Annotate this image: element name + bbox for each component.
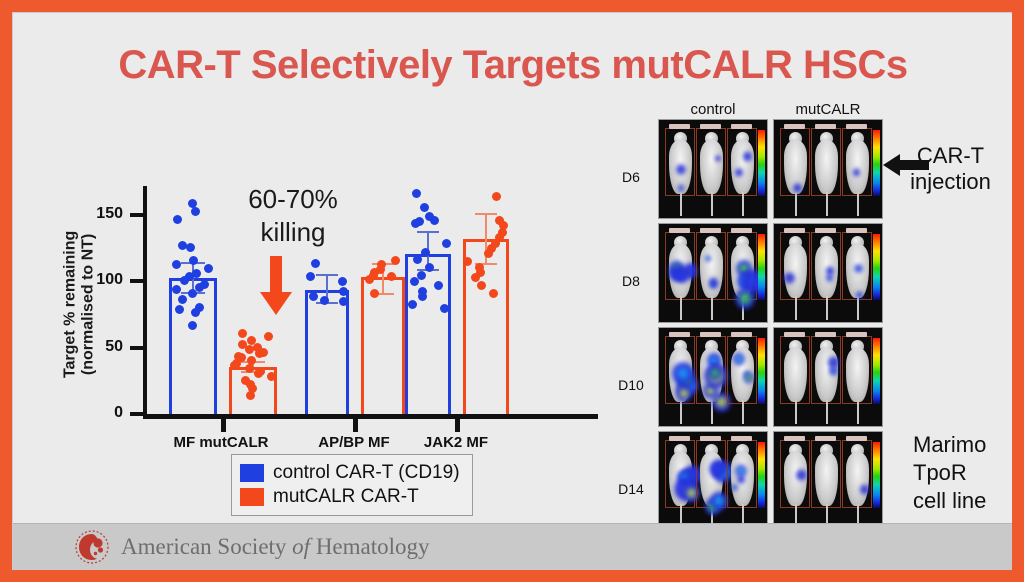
mouse-body — [846, 452, 869, 506]
cell-line-line3: cell line — [913, 487, 1012, 515]
page-title: CAR-T Selectively Targets mutCALR HSCs — [13, 43, 1012, 88]
row-label-d8: D8 — [613, 273, 649, 289]
bioluminescence-image — [773, 431, 883, 531]
y-axis-title-line1: Target % remaining — [62, 189, 80, 419]
scatter-point — [255, 349, 264, 358]
row-label-d6: D6 — [613, 169, 649, 185]
scatter-point — [412, 189, 421, 198]
scatter-point — [484, 249, 493, 258]
x-label-mf-mutcalr: MF mutCALR — [151, 434, 291, 451]
bioluminescence-image — [658, 327, 768, 427]
mouse-tail — [857, 296, 859, 320]
mouse-id-tag — [731, 124, 752, 129]
mouse-id-tag — [815, 124, 836, 129]
signal-blob — [743, 371, 754, 384]
mouse-id-tag — [815, 436, 836, 441]
x-label-jak2-mf: JAK2 MF — [395, 434, 517, 451]
ash-logo-icon — [75, 530, 109, 564]
signal-blob — [793, 183, 802, 193]
chart-legend: control CAR-T (CD19) mutCALR CAR-T — [231, 454, 473, 516]
signal-blob — [676, 384, 692, 403]
mouse-id-tag — [700, 436, 721, 441]
slide-canvas: CAR-T Selectively Targets mutCALR HSCs T… — [12, 12, 1012, 570]
scatter-point — [238, 329, 247, 338]
mouse-tail — [795, 192, 797, 216]
y-axis-title: Target % remaining (normalised to NT) — [62, 189, 99, 419]
scatter-point — [365, 275, 374, 284]
y-tick-label-0: 0 — [71, 404, 123, 422]
x-axis-line — [143, 414, 598, 419]
scatter-point — [245, 345, 254, 354]
mouse-tail — [680, 296, 682, 320]
scatter-point — [418, 292, 427, 301]
mouse-id-tag — [669, 436, 690, 441]
scatter-point — [408, 300, 417, 309]
slide-frame: CAR-T Selectively Targets mutCALR HSCs T… — [0, 0, 1024, 582]
legend-label-control: control CAR-T (CD19) — [273, 462, 460, 484]
signal-blob — [675, 267, 689, 284]
y-axis-title-line2: (normalised to NT) — [80, 189, 98, 419]
panel-header-mutcalr: mutCALR — [773, 101, 883, 118]
signal-blob — [737, 475, 745, 484]
scatter-point — [189, 256, 198, 265]
bar-mf-mutcalr-control — [169, 278, 217, 414]
bioluminescence-image — [773, 119, 883, 219]
y-tick-label-50: 50 — [71, 338, 123, 356]
mouse-id-tag — [815, 228, 836, 233]
bar-apbp-mf-mutcalr — [361, 277, 405, 414]
signal-blob — [715, 155, 721, 162]
row-label-d10: D10 — [613, 377, 649, 393]
y-axis-line — [143, 186, 147, 418]
y-tick-150 — [130, 213, 147, 217]
annotation-killing: 60-70% killing — [223, 183, 363, 248]
mouse-tail — [742, 400, 744, 424]
x-tick-apbp-mf — [353, 419, 358, 432]
signal-blob — [860, 484, 869, 495]
mouse-body — [846, 140, 869, 194]
scatter-point — [391, 256, 400, 265]
mouse-id-tag — [784, 332, 805, 337]
mouse-body — [731, 140, 754, 194]
signal-blob — [796, 469, 807, 481]
mouse-id-tag — [731, 436, 752, 441]
bioluminescence-panel: control mutCALR D6 D8 D10 D14 CAR-T inje… — [613, 101, 1012, 541]
scatter-point — [204, 264, 213, 273]
signal-blob — [731, 484, 737, 491]
mouse-tail — [711, 192, 713, 216]
bar-apbp-mf-control — [305, 290, 349, 414]
legend-label-mutcalr: mutCALR CAR-T — [273, 486, 419, 508]
mouse-tail — [857, 192, 859, 216]
footer-text-part1: American Society — [121, 534, 292, 559]
scatter-point — [267, 372, 276, 381]
annotation-line1: 60-70% — [223, 183, 363, 216]
signal-blob — [678, 184, 685, 192]
scatter-point — [425, 263, 434, 272]
x-tick-mf-mutcalr — [221, 419, 226, 432]
mouse-id-tag — [846, 228, 867, 233]
cell-line-line1: Marimo — [913, 431, 1012, 459]
scatter-point — [191, 207, 200, 216]
scatter-point — [489, 289, 498, 298]
x-tick-jak2-mf — [455, 419, 460, 432]
y-tick-label-150: 150 — [71, 205, 123, 223]
footer-text-italic: of — [292, 534, 310, 559]
mouse-tail — [795, 296, 797, 320]
footer-text-part2: Hematology — [310, 534, 429, 559]
mouse-id-tag — [669, 124, 690, 129]
mouse-id-tag — [700, 124, 721, 129]
bioluminescence-image — [658, 223, 768, 323]
scatter-point — [311, 259, 320, 268]
mouse-body — [846, 348, 869, 402]
scatter-point — [411, 219, 420, 228]
mouse-id-tag — [731, 228, 752, 233]
cart-callout-line2: injection — [888, 169, 1012, 195]
y-tick-0 — [130, 412, 147, 416]
legend-swatch-mutcalr — [240, 488, 264, 506]
intensity-colorbar — [758, 130, 765, 196]
signal-blob — [676, 164, 686, 175]
footer-bar: American Society of Hematology — [13, 523, 1012, 570]
mouse-id-tag — [700, 332, 721, 337]
panel-header-control: control — [658, 101, 768, 118]
signal-blob — [710, 491, 727, 511]
mouse-id-tag — [846, 436, 867, 441]
intensity-colorbar — [873, 338, 880, 404]
mouse-body — [700, 244, 723, 298]
signal-blob — [828, 356, 839, 369]
mouse-id-tag — [784, 436, 805, 441]
scatter-point — [430, 216, 439, 225]
mouse-tail — [680, 192, 682, 216]
scatter-point — [306, 272, 315, 281]
scatter-point — [338, 277, 347, 286]
mouse-body — [784, 244, 807, 298]
signal-blob — [672, 361, 693, 385]
mouse-tail — [826, 400, 828, 424]
footer-text: American Society of Hematology — [121, 534, 430, 560]
cell-line-caption: Marimo TpoR cell line — [913, 431, 1012, 515]
legend-swatch-control — [240, 464, 264, 482]
mouse-tail — [742, 192, 744, 216]
mouse-body — [815, 452, 838, 506]
bar-chart: Target % remaining (normalised to NT) 0 … — [43, 168, 603, 528]
scatter-point — [191, 308, 200, 317]
y-tick-label-100: 100 — [71, 271, 123, 289]
mouse-id-tag — [846, 332, 867, 337]
intensity-colorbar — [873, 130, 880, 196]
intensity-colorbar — [873, 442, 880, 508]
mouse-body — [784, 348, 807, 402]
mouse-tail — [826, 296, 828, 320]
scatter-point — [309, 292, 318, 301]
signal-blob — [735, 168, 743, 177]
signal-blob — [735, 287, 755, 311]
cell-line-line2: TpoR — [913, 459, 1012, 487]
scatter-point — [172, 285, 181, 294]
mouse-body — [815, 140, 838, 194]
mouse-tail — [680, 400, 682, 424]
scatter-point — [420, 203, 429, 212]
signal-blob — [856, 291, 863, 299]
bioluminescence-image — [658, 119, 768, 219]
signal-blob — [733, 352, 745, 365]
annotation-line2: killing — [223, 216, 363, 249]
legend-item-mutcalr: mutCALR CAR-T — [240, 486, 460, 508]
scatter-point — [180, 276, 189, 285]
mouse-id-tag — [731, 332, 752, 337]
mouse-tail — [826, 192, 828, 216]
intensity-colorbar — [758, 234, 765, 300]
mouse-tail — [857, 400, 859, 424]
scatter-point — [178, 295, 187, 304]
mouse-body — [700, 140, 723, 194]
mouse-id-tag — [669, 332, 690, 337]
mouse-id-tag — [784, 124, 805, 129]
mouse-id-tag — [784, 228, 805, 233]
row-label-d14: D14 — [613, 481, 649, 497]
scatter-point — [246, 391, 255, 400]
mouse-id-tag — [700, 228, 721, 233]
scatter-point — [172, 260, 181, 269]
signal-blob — [853, 168, 860, 177]
scatter-point — [492, 192, 501, 201]
mouse-id-tag — [815, 332, 836, 337]
mouse-id-tag — [669, 228, 690, 233]
signal-blob — [705, 255, 711, 262]
down-arrow-icon — [259, 256, 293, 316]
intensity-colorbar — [758, 442, 765, 508]
bioluminescence-image — [658, 431, 768, 531]
cart-injection-callout: CAR-T injection — [888, 143, 1012, 196]
signal-blob — [826, 266, 834, 276]
legend-item-control: control CAR-T (CD19) — [240, 462, 460, 484]
scatter-point — [173, 215, 182, 224]
bioluminescence-image — [773, 327, 883, 427]
scatter-point — [442, 239, 451, 248]
intensity-colorbar — [758, 338, 765, 404]
scatter-point — [264, 332, 273, 341]
intensity-colorbar — [873, 234, 880, 300]
bioluminescence-image — [773, 223, 883, 323]
mouse-id-tag — [846, 124, 867, 129]
mouse-tail — [795, 400, 797, 424]
cart-callout-line1: CAR-T — [888, 143, 1012, 169]
y-tick-50 — [130, 346, 147, 350]
mouse-tail — [711, 296, 713, 320]
scatter-point — [440, 304, 449, 313]
signal-blob — [854, 264, 862, 274]
y-tick-100 — [130, 279, 147, 283]
scatter-point — [186, 243, 195, 252]
